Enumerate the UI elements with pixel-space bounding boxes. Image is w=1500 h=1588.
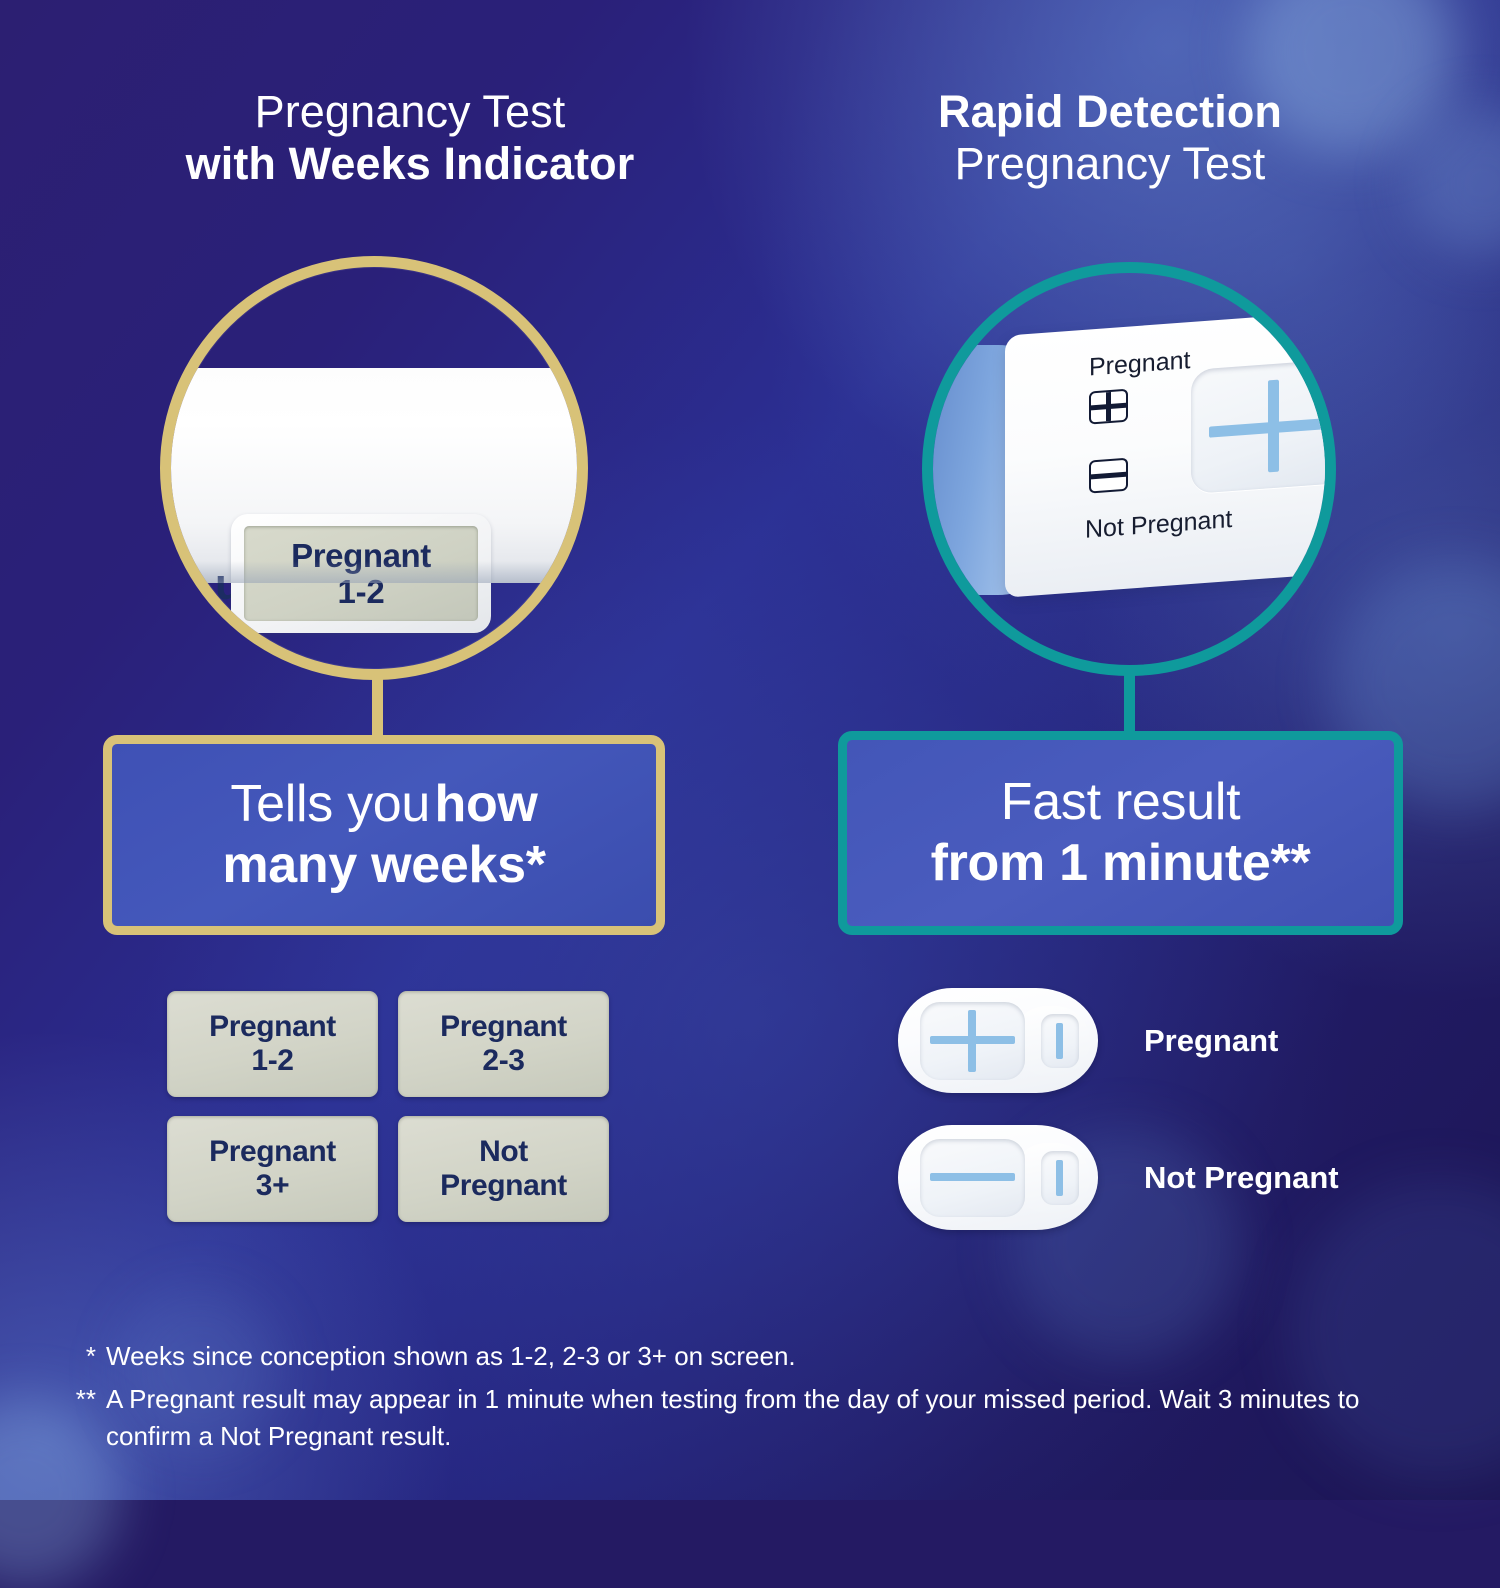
stick-legend-label: Pregnant [1144,1023,1278,1059]
stick-legend-row: Pregnant [898,988,1368,1093]
footnote-item: ** A Pregnant result may appear in 1 min… [70,1381,1450,1455]
right-column-heading: Rapid Detection Pregnancy Test [760,86,1460,190]
minus-result-icon [898,1125,1098,1230]
left-callout-line1: Tells you [230,775,430,833]
lcd-legend-row: Pregnant 3+ Not Pregnant [167,1116,609,1222]
digital-test-photo: ue Pregnant 1-2 [171,267,577,669]
left-heading-line2: with Weeks Indicator [60,138,760,190]
lcd-chip: Pregnant 2-3 [398,991,609,1097]
footnote-text: Weeks since conception shown as 1-2, 2-3… [106,1338,1450,1375]
footnote-marker: ** [70,1381,106,1455]
left-feature-callout: Tells you how many weeks* [103,735,665,935]
right-feature-callout: Fast result from 1 minute** [838,731,1403,935]
lcd-line1: Pregnant [291,538,431,574]
lcd-chip: Not Pregnant [398,1116,609,1222]
stick-legend-row: Not Pregnant [898,1125,1368,1230]
lcd-chip-line1: Pregnant [440,1010,567,1044]
lcd-chip-line2: 2-3 [482,1044,524,1078]
result-window-control [1041,1014,1079,1068]
right-heading-line2: Pregnancy Test [760,138,1460,190]
footnote-item: * Weeks since conception shown as 1-2, 2… [70,1338,1450,1375]
lcd-line2: 1-2 [337,574,384,610]
rapid-test-photo: Pregnant Not Pregnant [933,273,1325,665]
test-stick-face: Pregnant Not Pregnant [1005,306,1336,597]
lcd-chip-line1: Pregnant [209,1135,336,1169]
lcd-chip-line2: 1-2 [251,1044,293,1078]
footnote-marker: * [70,1338,106,1375]
left-product-zoom-circle: ue Pregnant 1-2 [160,256,588,680]
right-heading-line1: Rapid Detection [760,86,1460,138]
result-window-main [920,1002,1025,1080]
lcd-chip: Pregnant 3+ [167,1116,378,1222]
left-callout-line2: how [435,775,538,833]
left-heading-line1: Pregnancy Test [60,86,760,138]
right-callout-line1: Fast result [1001,772,1240,833]
minus-symbol-icon [1089,458,1128,494]
right-callout-line2: from 1 minute** [931,833,1311,894]
digital-test-body: ue Pregnant 1-2 [160,368,588,583]
lcd-chip-line2: Pregnant [440,1169,567,1203]
result-window-main [920,1139,1025,1217]
left-callout-line3: many weeks* [222,835,545,896]
footnotes: * Weeks since conception shown as 1-2, 2… [70,1338,1450,1461]
lcd-chip-line2: 3+ [256,1169,289,1203]
stick-label-not-pregnant: Not Pregnant [1085,505,1232,545]
plus-result-icon [898,988,1098,1093]
right-product-zoom-circle: Pregnant Not Pregnant [922,262,1336,676]
result-window-main [1191,358,1336,494]
result-window-control [1041,1151,1079,1205]
lcd-results-legend: Pregnant 1-2 Pregnant 2-3 Pregnant 3+ No… [167,991,609,1241]
plus-symbol-icon [1089,389,1128,425]
lcd-chip: Pregnant 1-2 [167,991,378,1097]
lcd-legend-row: Pregnant 1-2 Pregnant 2-3 [167,991,609,1097]
left-connector-stem [372,672,383,744]
footnote-text: A Pregnant result may appear in 1 minute… [106,1381,1450,1455]
lcd-chip-line1: Pregnant [209,1010,336,1044]
lcd-bezel: Pregnant 1-2 [231,514,491,633]
stick-legend-label: Not Pregnant [1144,1160,1339,1196]
stick-label-pregnant: Pregnant [1089,346,1190,382]
lcd-screen: Pregnant 1-2 [244,526,478,621]
left-column-heading: Pregnancy Test with Weeks Indicator [60,86,760,190]
stick-results-legend: Pregnant Not Pregnant [898,988,1368,1262]
lcd-chip-line1: Not [479,1135,528,1169]
